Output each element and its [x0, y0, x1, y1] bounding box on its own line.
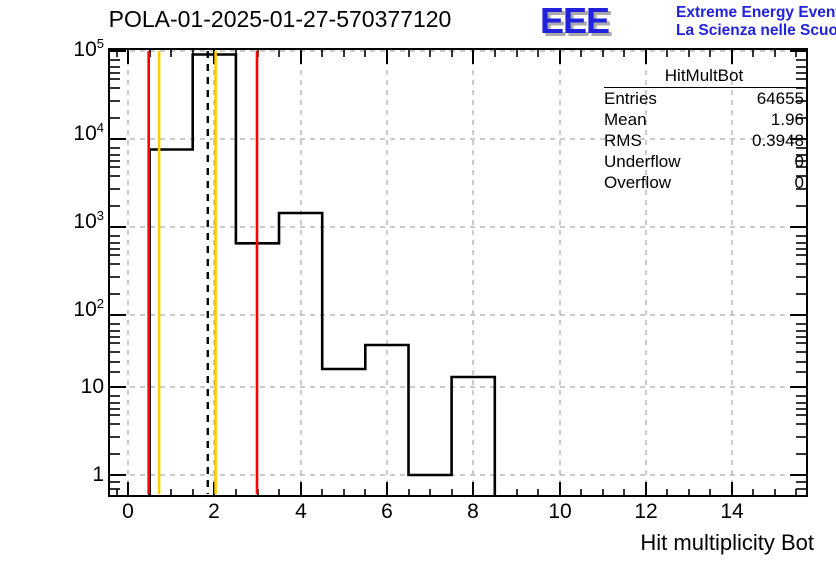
stats-val-mean: 1.96 [771, 110, 804, 130]
stats-row-overflow: Overflow 0 [604, 172, 804, 193]
y-axis-ticks [110, 51, 315, 489]
stats-key-mean: Mean [604, 110, 647, 130]
stats-val-underflow: 0 [795, 152, 804, 172]
x-tick-2: 2 [194, 500, 234, 524]
x-tick-8: 8 [453, 500, 493, 524]
stats-key-entries: Entries [604, 89, 657, 109]
stats-key-overflow: Overflow [604, 173, 671, 193]
stats-val-entries: 64655 [757, 89, 804, 109]
stats-key-rms: RMS [604, 131, 642, 151]
x-tick-10: 10 [540, 500, 580, 524]
stats-val-rms: 0.3948 [752, 131, 804, 151]
histogram-outline [150, 55, 495, 496]
stats-row-mean: Mean 1.96 [604, 109, 804, 130]
stats-box: HitMultBot Entries 64655 Mean 1.96 RMS 0… [604, 66, 804, 193]
stats-row-entries: Entries 64655 [604, 88, 804, 109]
x-tick-0: 0 [108, 500, 148, 524]
reference-lines [149, 51, 257, 494]
stats-key-underflow: Underflow [604, 152, 681, 172]
stats-row-rms: RMS 0.3948 [604, 130, 804, 151]
stats-box-title: HitMultBot [604, 66, 804, 88]
root-canvas: POLA-01-2025-01-27-570377120 EEE Extreme… [0, 0, 836, 572]
x-tick-4: 4 [281, 500, 321, 524]
x-tick-6: 6 [367, 500, 407, 524]
stats-row-underflow: Underflow 0 [604, 151, 804, 172]
x-axis-title: Hit multiplicity Bot [640, 530, 814, 556]
stats-val-overflow: 0 [795, 173, 804, 193]
x-tick-14: 14 [712, 500, 752, 524]
x-tick-12: 12 [626, 500, 666, 524]
x-axis-minor-ticks [117, 489, 796, 496]
